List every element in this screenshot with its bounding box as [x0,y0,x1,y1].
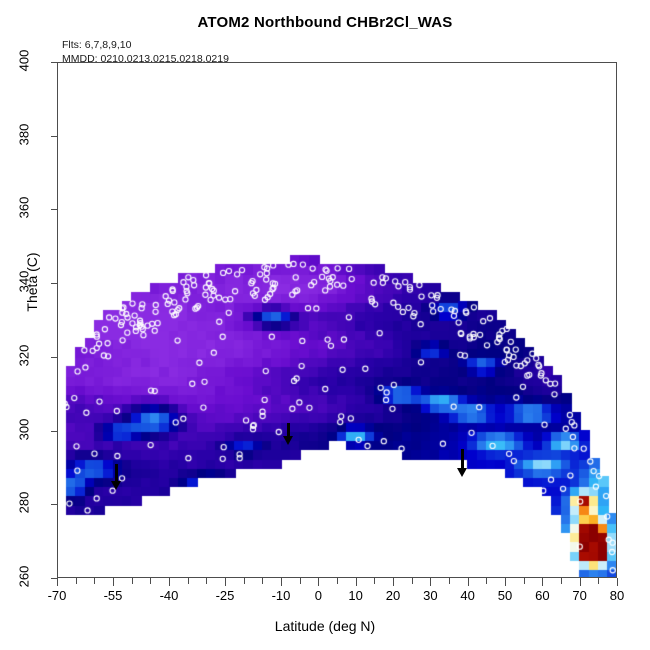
x-axis-tick-label: -10 [272,588,291,603]
arrow-shaft [461,449,464,469]
y-axis-tick-label: 400 [17,37,32,85]
arrow-head [457,468,467,477]
x-axis-tick [206,578,207,584]
x-axis-tick [262,578,263,584]
scientific-plot-figure: { "figure": { "title": "ATOM2 Northbound… [0,0,650,650]
x-axis-tick [244,578,245,584]
x-axis-tick [561,578,562,584]
arrow-northern-boundary [456,449,468,477]
x-axis-tick [57,578,58,586]
x-axis-tick-label: 10 [348,588,362,603]
y-axis-tick-label: 280 [17,479,32,527]
y-axis-label: Theta (C) [24,222,40,342]
arrow-head [111,481,121,490]
x-axis-tick-label: 0 [315,588,322,603]
x-axis-tick [430,578,431,586]
arrow-tropical-convection [282,423,294,445]
x-axis-tick-label: 70 [572,588,586,603]
x-axis-tick-label: 50 [498,588,512,603]
x-axis-tick-label: 30 [423,588,437,603]
x-axis-tick [76,578,77,584]
x-axis-tick [542,578,543,586]
x-axis-tick [412,578,413,584]
arrow-southern-tropopause [111,464,123,490]
x-axis-tick [374,578,375,584]
y-axis-tick-label: 260 [17,553,32,601]
y-axis-tick [51,62,57,63]
arrow-shaft [115,464,118,482]
x-axis-tick [356,578,357,586]
arrow-head [283,436,293,445]
y-axis-tick [51,504,57,505]
x-axis-tick-label: -70 [48,588,67,603]
x-axis-tick [486,578,487,584]
x-axis-tick [337,578,338,584]
y-axis-tick [51,357,57,358]
x-axis-tick-label: 60 [535,588,549,603]
x-axis-tick [449,578,450,584]
x-axis-tick [524,578,525,584]
x-axis-tick-label: 80 [610,588,624,603]
x-axis-tick [505,578,506,586]
x-axis-tick [225,578,226,586]
x-axis-tick-label: 20 [386,588,400,603]
x-axis-tick [132,578,133,584]
x-axis-tick-label: -40 [160,588,179,603]
y-axis-tick [51,136,57,137]
x-axis-tick-label: 40 [460,588,474,603]
x-axis-tick [598,578,599,584]
y-axis-tick-label: 380 [17,110,32,158]
x-axis-tick [300,578,301,584]
x-axis-tick-label: -55 [104,588,123,603]
x-axis-tick [150,578,151,584]
x-axis-tick [393,578,394,586]
y-axis-tick-label: 300 [17,405,32,453]
heatmap-field [58,63,616,577]
page-title: ATOM2 Northbound CHBr2Cl_WAS [0,14,650,31]
y-axis-tick [51,209,57,210]
y-axis-tick [51,578,57,579]
x-axis-tick [617,578,618,586]
x-axis-label: Latitude (deg N) [0,618,650,634]
x-axis-tick [94,578,95,584]
x-axis-tick [281,578,282,586]
x-axis-tick [580,578,581,586]
x-axis-tick [169,578,170,586]
arrow-shaft [287,423,290,437]
flights-annotation: Flts: 6,7,8,9,10 [62,39,131,51]
x-axis-tick [188,578,189,584]
x-axis-tick [113,578,114,586]
x-axis-tick-label: -25 [216,588,235,603]
y-axis-tick [51,283,57,284]
x-axis-tick [318,578,319,586]
y-axis-tick [51,431,57,432]
x-axis-tick [468,578,469,586]
